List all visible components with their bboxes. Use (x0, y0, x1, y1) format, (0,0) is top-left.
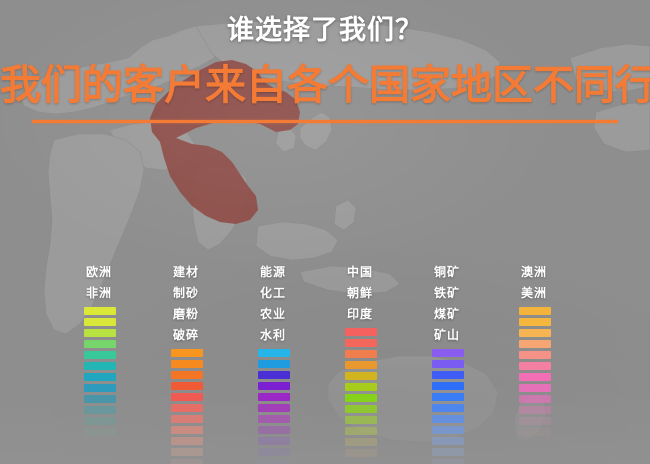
category-column-regions-2: 澳洲美洲 (519, 262, 609, 439)
column-label: 建材 (173, 262, 261, 283)
gradient-bar-stack (432, 349, 522, 464)
gradient-bar (432, 426, 464, 434)
gradient-bar (519, 373, 551, 381)
gradient-bar (345, 328, 377, 336)
gradient-bar (519, 351, 551, 359)
gradient-bar (84, 373, 116, 381)
gradient-bar (345, 416, 377, 424)
column-label-group: 能源化工农业水利 (258, 262, 348, 346)
gradient-bar (258, 360, 290, 368)
column-label: 朝鲜 (347, 283, 435, 304)
gradient-bar (519, 318, 551, 326)
gradient-bar (171, 437, 203, 445)
gradient-bar (258, 371, 290, 379)
column-label: 煤矿 (434, 304, 522, 325)
gradient-bar (519, 406, 551, 414)
gradient-bar-stack (258, 349, 348, 464)
column-label: 欧洲 (86, 262, 174, 283)
banner-stage: 谁选择了我们？ 我们的客户来自各个国家地区不同行业 欧洲非洲建材制砂磨粉破碎能源… (0, 0, 650, 464)
column-label-group: 中国朝鲜印度 (345, 262, 435, 325)
column-label-group: 建材制砂磨粉破碎 (171, 262, 261, 346)
gradient-bar (171, 415, 203, 423)
category-column-mining-1: 铜矿铁矿煤矿矿山 (432, 262, 522, 464)
category-column-countries-1: 中国朝鲜印度 (345, 262, 435, 460)
gradient-bar (519, 428, 551, 436)
gradient-bar (84, 362, 116, 370)
column-label: 能源 (260, 262, 348, 283)
category-column-regions-1: 欧洲非洲 (84, 262, 174, 439)
gradient-bar (258, 437, 290, 445)
column-label-group: 欧洲非洲 (84, 262, 174, 304)
column-label: 铜矿 (434, 262, 522, 283)
gradient-bar (258, 426, 290, 434)
gradient-bar-stack (345, 328, 435, 457)
gradient-bar (345, 339, 377, 347)
gradient-bar (258, 415, 290, 423)
gradient-bar (432, 393, 464, 401)
column-label: 农业 (260, 304, 348, 325)
gradient-bar (171, 448, 203, 456)
gradient-bar (171, 426, 203, 434)
gradient-bar (171, 360, 203, 368)
gradient-bar (171, 382, 203, 390)
headline-underline-rule (32, 120, 618, 123)
column-label: 铁矿 (434, 283, 522, 304)
gradient-bar (171, 349, 203, 357)
gradient-bar-stack (519, 307, 609, 436)
gradient-bar (84, 384, 116, 392)
gradient-bar (258, 448, 290, 456)
column-label: 磨粉 (173, 304, 261, 325)
gradient-bar (345, 350, 377, 358)
gradient-bar (432, 371, 464, 379)
gradient-bar (84, 417, 116, 425)
gradient-bar (345, 383, 377, 391)
gradient-bar (519, 307, 551, 315)
gradient-bar (519, 417, 551, 425)
gradient-bar (258, 404, 290, 412)
column-label: 化工 (260, 283, 348, 304)
gradient-bar (84, 318, 116, 326)
gradient-bar (258, 459, 290, 464)
gradient-bar (258, 393, 290, 401)
gradient-bar (84, 351, 116, 359)
gradient-bar (519, 362, 551, 370)
banner-headline: 我们的客户来自各个国家地区不同行业 (0, 59, 650, 111)
gradient-bar-stack (171, 349, 261, 464)
column-label: 印度 (347, 304, 435, 325)
gradient-bar (345, 427, 377, 435)
gradient-bar (171, 371, 203, 379)
column-label: 破碎 (173, 325, 261, 346)
gradient-bar (432, 349, 464, 357)
gradient-bar (519, 384, 551, 392)
column-label-group: 铜矿铁矿煤矿矿山 (432, 262, 522, 346)
gradient-bar (345, 449, 377, 457)
category-columns: 欧洲非洲建材制砂磨粉破碎能源化工农业水利中国朝鲜印度铜矿铁矿煤矿矿山澳洲美洲 (0, 262, 650, 462)
gradient-bar (345, 394, 377, 402)
category-column-industries-1: 能源化工农业水利 (258, 262, 348, 464)
gradient-bar (432, 437, 464, 445)
gradient-bar (432, 360, 464, 368)
column-label: 澳洲 (521, 262, 609, 283)
gradient-bar (519, 329, 551, 337)
gradient-bar (432, 459, 464, 464)
gradient-bar-stack (84, 307, 174, 436)
gradient-bar (258, 349, 290, 357)
gradient-bar (432, 382, 464, 390)
gradient-bar (171, 404, 203, 412)
gradient-bar (345, 438, 377, 446)
gradient-bar (519, 395, 551, 403)
gradient-bar (84, 428, 116, 436)
gradient-bar (519, 340, 551, 348)
column-label: 中国 (347, 262, 435, 283)
gradient-bar (84, 395, 116, 403)
column-label: 制砂 (173, 283, 261, 304)
column-label: 水利 (260, 325, 348, 346)
column-label-group: 澳洲美洲 (519, 262, 609, 304)
gradient-bar (432, 404, 464, 412)
gradient-bar (171, 393, 203, 401)
gradient-bar (432, 415, 464, 423)
gradient-bar (84, 340, 116, 348)
gradient-bar (345, 405, 377, 413)
column-label: 矿山 (434, 325, 522, 346)
gradient-bar (84, 307, 116, 315)
category-column-products-1: 建材制砂磨粉破碎 (171, 262, 261, 464)
gradient-bar (345, 361, 377, 369)
gradient-bar (84, 329, 116, 337)
gradient-bar (345, 372, 377, 380)
gradient-bar (432, 448, 464, 456)
banner-subtitle: 谁选择了我们？ (0, 14, 650, 48)
column-label: 非洲 (86, 283, 174, 304)
gradient-bar (258, 382, 290, 390)
gradient-bar (171, 459, 203, 464)
column-label: 美洲 (521, 283, 609, 304)
gradient-bar (84, 406, 116, 414)
